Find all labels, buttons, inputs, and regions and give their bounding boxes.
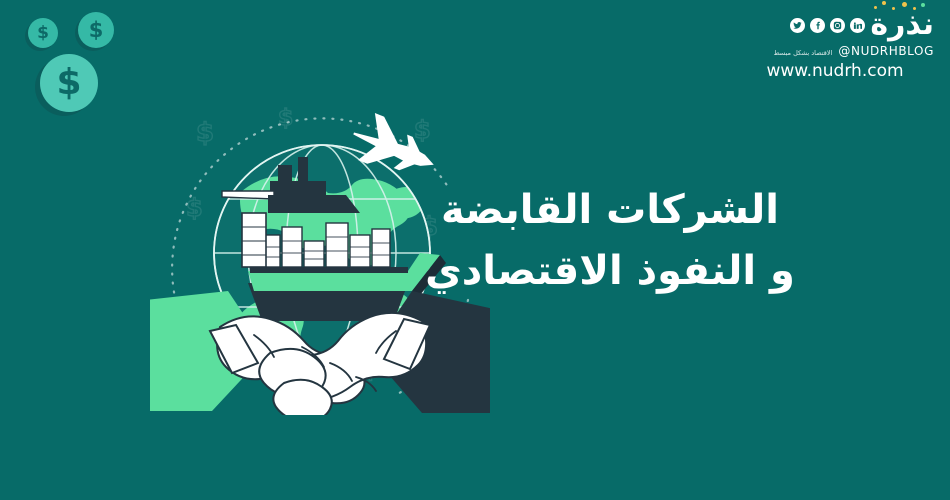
brand-block: نذرة الاقتصاد بشكل مبسط @NUDRHBLOG www.n… (736, 8, 936, 81)
coin-small: $ (28, 18, 58, 48)
coin-medium: $ (78, 12, 114, 48)
brand-handle[interactable]: @NUDRHBLOG (838, 44, 934, 58)
linkedin-icon[interactable] (850, 18, 865, 33)
banner-canvas: $ $ $ $ $ $ $ $ $ $ $ (0, 0, 950, 500)
handle-row: الاقتصاد بشكل مبسط @NUDRHBLOG (736, 44, 936, 58)
twitter-icon[interactable] (790, 18, 805, 33)
facebook-icon[interactable] (810, 18, 825, 33)
headline: الشركات القابضة و النفوذ الاقتصادي (400, 180, 820, 302)
headline-line-1: الشركات القابضة (400, 180, 820, 241)
social-and-logo-row: نذرة (736, 8, 936, 42)
logo-dots-decoration (872, 1, 930, 13)
brand-tagline: الاقتصاد بشكل مبسط (774, 49, 833, 57)
nudrh-logo[interactable]: نذرة (870, 10, 934, 40)
dollar-icon: $ (89, 20, 104, 41)
dollar-icon: $ (56, 65, 81, 101)
coin-large: $ (40, 54, 98, 112)
headline-line-2: و النفوذ الاقتصادي (400, 241, 820, 302)
instagram-icon[interactable] (830, 18, 845, 33)
brand-url[interactable]: www.nudrh.com (736, 61, 936, 81)
dollar-icon: $ (37, 25, 49, 42)
